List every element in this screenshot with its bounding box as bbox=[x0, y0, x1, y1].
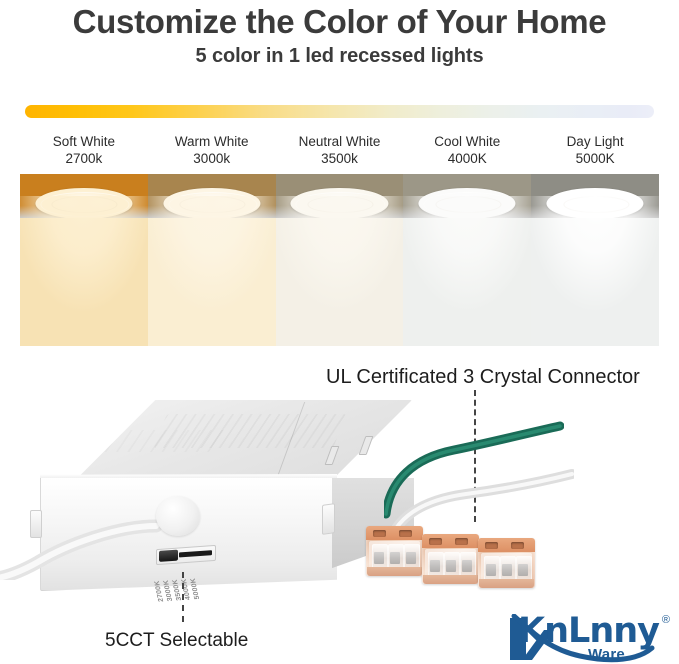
wall-surface bbox=[276, 218, 404, 346]
page-title: Customize the Color of Your Home bbox=[0, 2, 679, 42]
switch-track bbox=[179, 550, 212, 557]
junction-box: 2700K 3000K 3500K 4000K 5000K bbox=[32, 400, 422, 595]
cable-grommet bbox=[156, 496, 200, 536]
connector-contact bbox=[486, 564, 496, 576]
cct-photo-panel-2700k bbox=[20, 174, 148, 346]
cct-photo-strip bbox=[20, 174, 659, 346]
connector-contact bbox=[446, 560, 456, 572]
connector-contact bbox=[406, 552, 416, 564]
connector-port bbox=[485, 542, 498, 549]
connector-body bbox=[422, 534, 479, 584]
cct-name: Neutral White bbox=[299, 134, 381, 149]
infographic-page: Customize the Color of Your Home 5 color… bbox=[0, 0, 679, 664]
cct-switch-label-group: 2700K 3000K 3500K 4000K 5000K bbox=[154, 558, 224, 603]
wall-surface bbox=[20, 218, 148, 346]
connector-base bbox=[367, 567, 422, 576]
emboss-texture bbox=[88, 430, 227, 452]
connector-port bbox=[373, 530, 386, 537]
junction-box-top-face bbox=[40, 400, 412, 482]
cct-photo-panel-3000k bbox=[148, 174, 276, 346]
light-glow bbox=[531, 196, 659, 346]
connector-top-cap bbox=[422, 534, 479, 548]
light-glow bbox=[403, 196, 531, 346]
cct-label-neutral-white: Neutral White 3500k bbox=[276, 134, 404, 170]
connector-top-cap bbox=[478, 538, 535, 552]
cct-photo-panel-3500k bbox=[276, 174, 404, 346]
registered-trademark-icon: ® bbox=[662, 614, 670, 626]
cct-kelvin: 3500k bbox=[276, 151, 404, 168]
cct-name: Cool White bbox=[434, 134, 500, 149]
cct-kelvin: 2700k bbox=[20, 151, 148, 168]
color-temperature-label-row: Soft White 2700k Warm White 3000k Neutra… bbox=[20, 134, 659, 170]
connector-contact bbox=[502, 564, 512, 576]
cct-name: Warm White bbox=[175, 134, 249, 149]
cct-photo-panel-5000k bbox=[531, 174, 659, 346]
connector-base bbox=[423, 575, 478, 584]
connector-base bbox=[479, 579, 534, 588]
connector-port bbox=[511, 542, 524, 549]
cct-label-warm-white: Warm White 3000k bbox=[148, 134, 276, 170]
cct-label-soft-white: Soft White 2700k bbox=[20, 134, 148, 170]
connector-body bbox=[478, 538, 535, 588]
wall-surface bbox=[531, 218, 659, 346]
product-photo: 2700K 3000K 3500K 4000K 5000K bbox=[0, 380, 600, 630]
cct-kelvin: 3000k bbox=[148, 151, 276, 168]
page-subtitle: 5 color in 1 led recessed lights bbox=[0, 43, 679, 69]
wall-surface bbox=[148, 218, 276, 346]
light-glow bbox=[20, 196, 148, 346]
logo-wordmark: KnLnny bbox=[518, 612, 659, 650]
crystal-connector bbox=[478, 530, 535, 588]
led-module-cable bbox=[0, 508, 168, 580]
connector-port bbox=[399, 530, 412, 537]
light-glow bbox=[148, 196, 276, 346]
cct-label-cool-white: Cool White 4000K bbox=[403, 134, 531, 170]
cct-name: Soft White bbox=[53, 134, 115, 149]
cct-kelvin: 5000K bbox=[531, 151, 659, 168]
crystal-connector bbox=[422, 526, 479, 584]
connector-body bbox=[366, 526, 423, 576]
switch-callout-label: 5CCT Selectable bbox=[105, 628, 365, 653]
crystal-connector bbox=[366, 518, 423, 576]
light-glow bbox=[276, 196, 404, 346]
connector-contact bbox=[390, 552, 400, 564]
connector-contact bbox=[518, 564, 528, 576]
wall-surface bbox=[403, 218, 531, 346]
connector-contact bbox=[430, 560, 440, 572]
switch-callout-leader-line bbox=[182, 572, 184, 622]
cct-kelvin: 4000K bbox=[403, 151, 531, 168]
brand-logo: KnLnny ® Ware bbox=[492, 614, 672, 664]
cct-photo-panel-4000k bbox=[403, 174, 531, 346]
mounting-tab bbox=[322, 503, 335, 535]
connector-contact bbox=[374, 552, 384, 564]
cct-name: Day Light bbox=[567, 134, 624, 149]
color-temperature-gradient-bar bbox=[25, 105, 654, 118]
connector-port bbox=[429, 538, 442, 545]
connector-port bbox=[455, 538, 468, 545]
cct-label-day-light: Day Light 5000K bbox=[531, 134, 659, 170]
connector-top-cap bbox=[366, 526, 423, 540]
connector-contact bbox=[462, 560, 472, 572]
logo-subtext: Ware bbox=[588, 646, 625, 663]
